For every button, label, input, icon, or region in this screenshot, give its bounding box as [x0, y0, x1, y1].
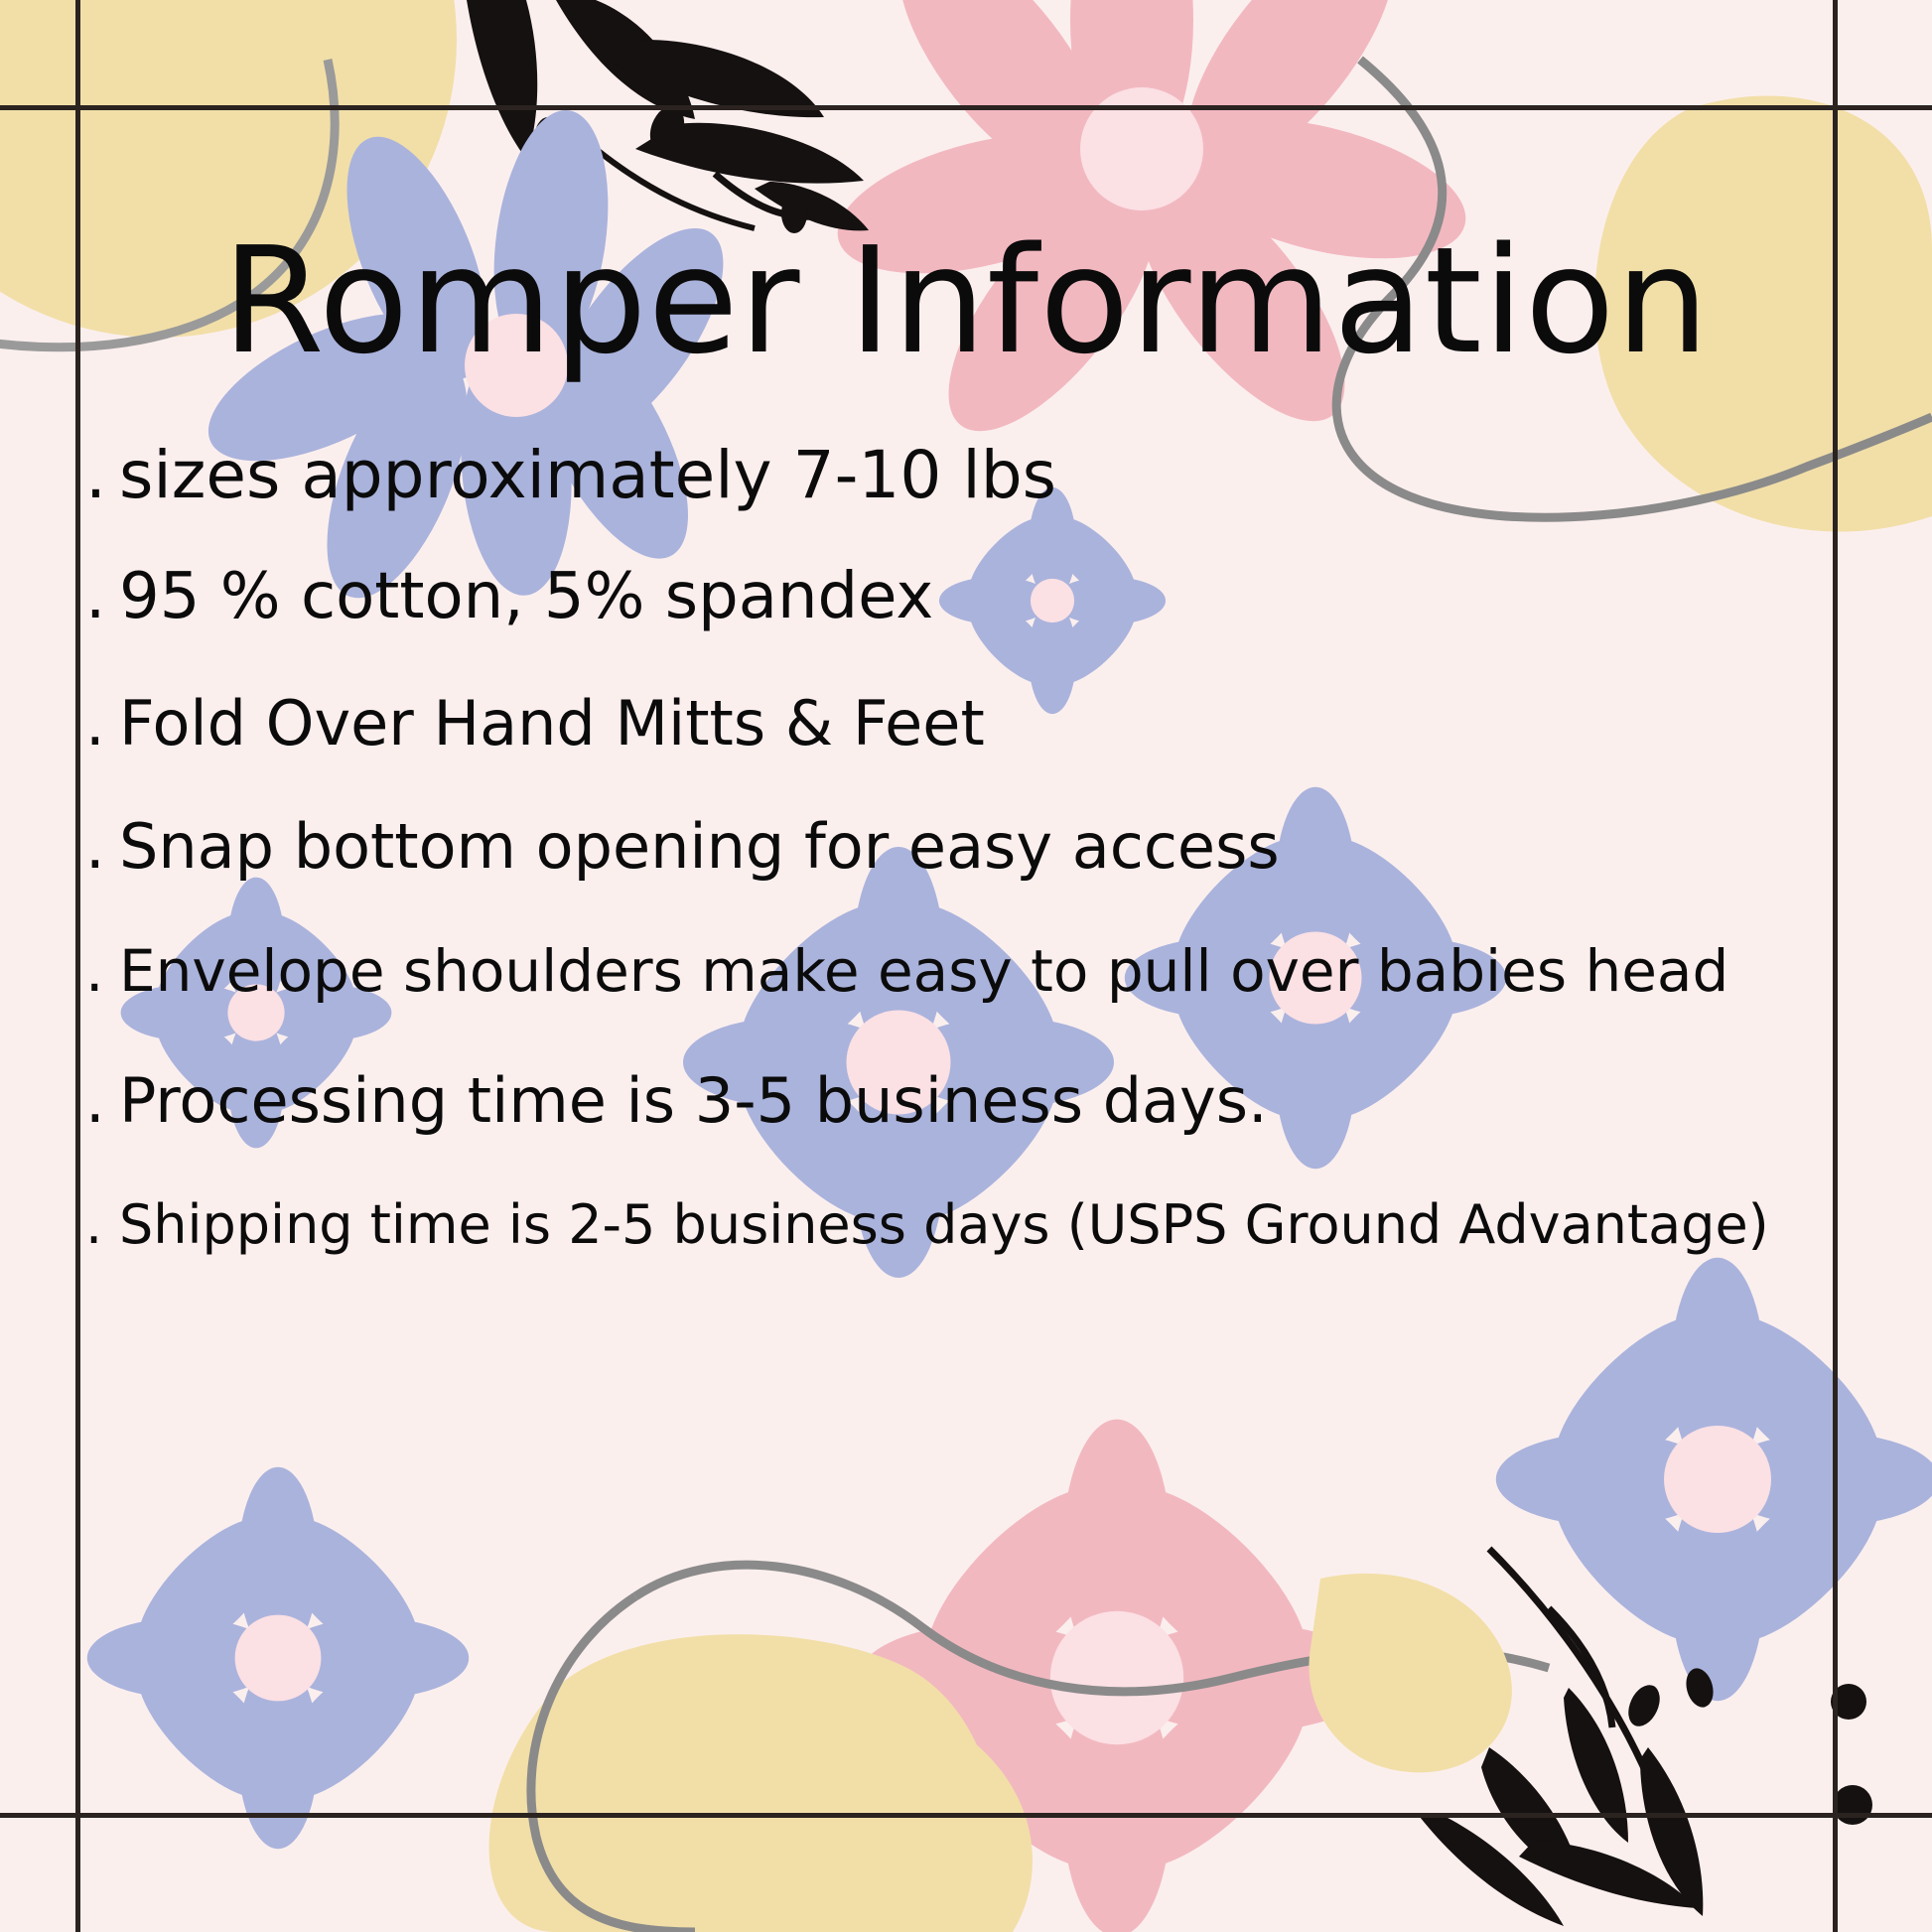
- list-item-label: Envelope shoulders make easy to pull ove…: [119, 937, 1728, 1005]
- list-item-label: 95 % cotton, 5% spandex: [119, 560, 933, 633]
- list-item: . Processing time is 3-5 business days.: [85, 1064, 1872, 1193]
- content-layer: Romper Information . sizes approximately…: [0, 0, 1932, 1932]
- info-list: . sizes approximately 7-10 lbs . 95 % co…: [85, 437, 1872, 1312]
- bullet-marker-icon: .: [85, 560, 119, 633]
- bullet-marker-icon: .: [85, 687, 119, 759]
- list-item-label: Shipping time is 2-5 business days (USPS…: [119, 1193, 1769, 1256]
- list-item: . Shipping time is 2-5 business days (US…: [85, 1193, 1872, 1312]
- bullet-marker-icon: .: [85, 1064, 119, 1137]
- page-title: Romper Information: [0, 226, 1932, 376]
- list-item-label: Processing time is 3-5 business days.: [119, 1064, 1268, 1137]
- list-item-label: Fold Over Hand Mitts & Feet: [119, 687, 985, 759]
- bullet-marker-icon: .: [85, 810, 119, 883]
- romper-information-graphic: Romper Information . sizes approximately…: [0, 0, 1932, 1932]
- list-item: . Fold Over Hand Mitts & Feet: [85, 687, 1872, 810]
- bullet-marker-icon: .: [85, 1193, 119, 1256]
- bullet-marker-icon: .: [85, 937, 119, 1005]
- list-item: . Envelope shoulders make easy to pull o…: [85, 937, 1872, 1064]
- list-item-label: Snap bottom opening for easy access: [119, 810, 1280, 883]
- list-item: . sizes approximately 7-10 lbs: [85, 437, 1872, 560]
- bullet-marker-icon: .: [85, 437, 119, 513]
- list-item: . 95 % cotton, 5% spandex: [85, 560, 1872, 687]
- list-item-label: sizes approximately 7-10 lbs: [119, 437, 1056, 513]
- list-item: . Snap bottom opening for easy access: [85, 810, 1872, 937]
